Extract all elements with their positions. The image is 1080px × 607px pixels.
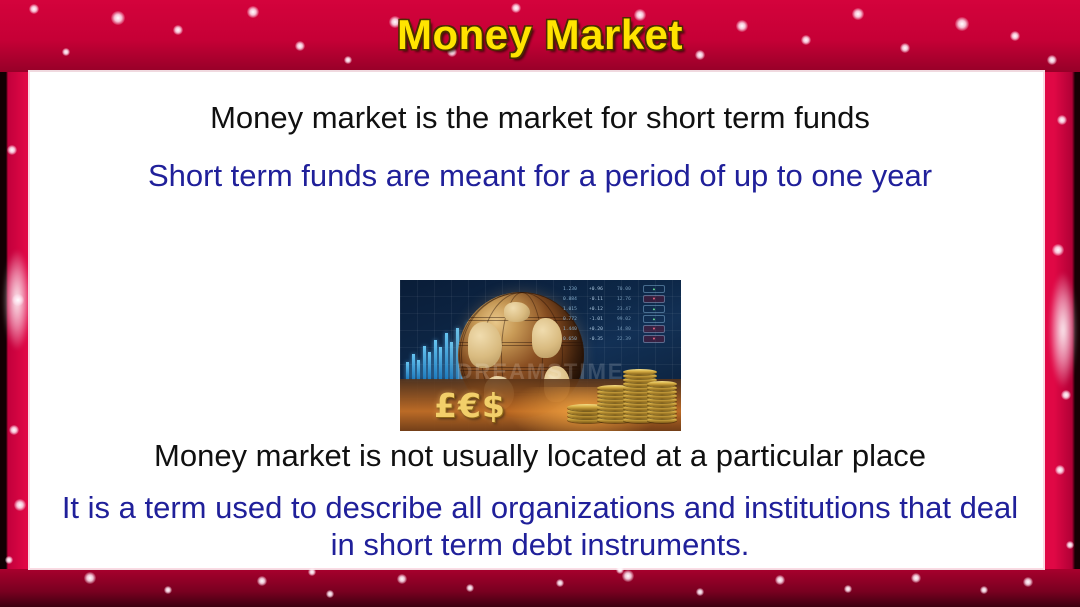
chart-bar xyxy=(406,362,409,380)
coin xyxy=(623,369,657,375)
ticker-symbol: 1.015 xyxy=(563,307,583,312)
ticker-row: 1.230+0.9670.00▲ xyxy=(561,284,679,294)
chart-bar xyxy=(417,360,420,380)
coin-stack xyxy=(647,377,677,423)
body-line-2: Short term funds are meant for a period … xyxy=(70,158,1010,195)
ticker-direction-indicator: ▲ xyxy=(643,305,665,313)
ticker-row: 1.015+0.1223.47▲ xyxy=(561,304,679,314)
ticker-change: -1.01 xyxy=(589,317,611,322)
ticker-symbol: 0.772 xyxy=(563,317,583,322)
ticker-direction-indicator: ▼ xyxy=(643,295,665,303)
chart-bar xyxy=(434,340,437,380)
ticker-symbol: 0.884 xyxy=(563,297,583,302)
chart-bar xyxy=(445,333,448,380)
slide-title: Money Market xyxy=(0,11,1080,59)
frame-bottom-band xyxy=(0,569,1080,607)
chart-bar xyxy=(412,354,415,380)
chart-bar xyxy=(428,352,431,380)
globe-landmass xyxy=(532,318,562,358)
ticker-symbol: 1.230 xyxy=(563,287,583,292)
globe-landmass xyxy=(468,322,502,368)
ticker-price: 99.02 xyxy=(617,317,637,322)
ticker-row: 0.772-1.0199.02▲ xyxy=(561,314,679,324)
body-line-4: It is a term used to describe all organi… xyxy=(60,490,1020,563)
photo-coin-stacks xyxy=(567,331,677,423)
ticker-change: -0.11 xyxy=(589,297,611,302)
ticker-price: 23.47 xyxy=(617,307,637,312)
ticker-row: 0.884-0.1112.76▼ xyxy=(561,294,679,304)
chart-bar xyxy=(439,347,442,380)
body-line-3: Money market is not usually located at a… xyxy=(40,438,1040,475)
money-market-photo: 1.230+0.9670.00▲0.884-0.1112.76▼1.015+0.… xyxy=(400,280,681,431)
ticker-change: +0.96 xyxy=(589,287,611,292)
ticker-direction-indicator: ▲ xyxy=(643,285,665,293)
globe-landmass xyxy=(504,302,530,322)
body-line-1: Money market is the market for short ter… xyxy=(40,100,1040,137)
photo-currency-symbols: £€$ xyxy=(434,386,506,425)
slide-canvas: Money Market Money market is the market … xyxy=(0,0,1080,607)
ticker-change: +0.12 xyxy=(589,307,611,312)
coin xyxy=(647,381,677,387)
chart-bar xyxy=(450,342,453,380)
ticker-direction-indicator: ▲ xyxy=(643,315,665,323)
chart-bar xyxy=(423,346,426,380)
frame-right-glow xyxy=(1048,255,1078,405)
ticker-price: 12.76 xyxy=(617,297,637,302)
ticker-price: 70.00 xyxy=(617,287,637,292)
frame-left-glow xyxy=(2,235,32,365)
